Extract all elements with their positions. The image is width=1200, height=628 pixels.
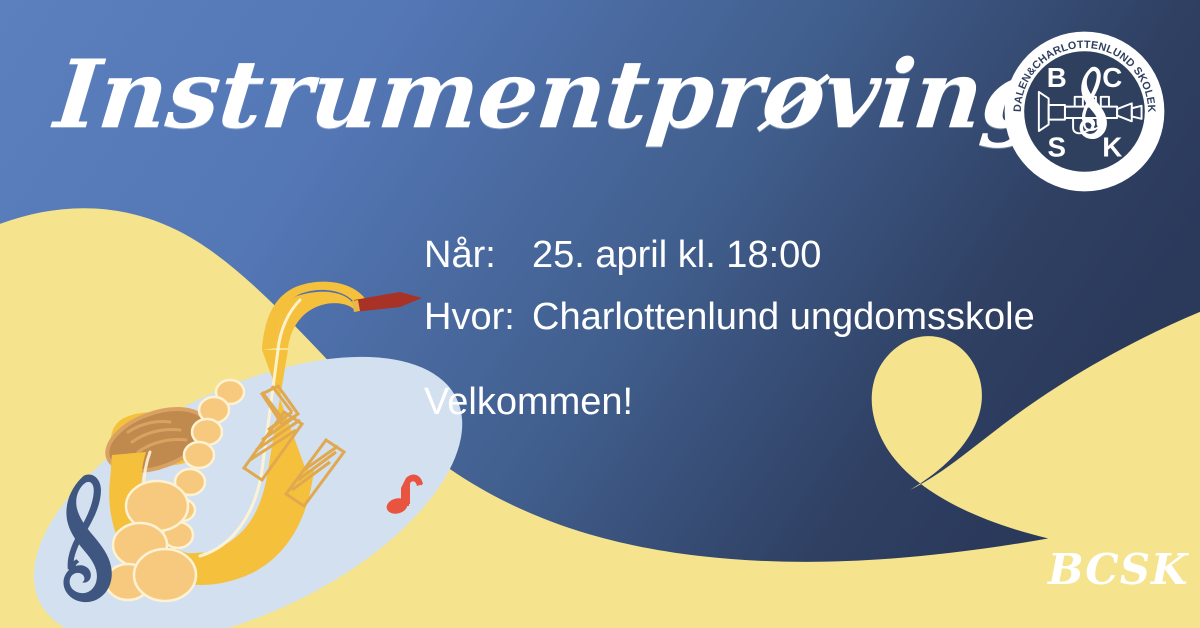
logo-letter-b: B — [1047, 62, 1067, 93]
where-value: Charlottenlund ungdomsskole — [532, 298, 1035, 336]
detail-row-where: Hvor: Charlottenlund ungdomsskole — [424, 298, 1124, 336]
logo-letter-k: K — [1102, 131, 1122, 162]
bcsk-logo: BRUNDALEN&CHARLOTTENLUND SKOLEKORPS TRON… — [1003, 30, 1166, 193]
event-details: Når: 25. april kl. 18:00 Hvor: Charlotte… — [424, 236, 1124, 360]
where-label: Hvor: — [424, 298, 532, 336]
detail-row-when: Når: 25. april kl. 18:00 — [424, 236, 1124, 274]
logo-letter-s: S — [1048, 131, 1066, 162]
poster-canvas: Instrumentprøving Når: 25. april kl. 18:… — [0, 0, 1200, 628]
when-label: Når: — [424, 236, 532, 274]
welcome-text: Velkommen! — [424, 383, 633, 421]
logo-letter-c: C — [1102, 62, 1122, 93]
when-value: 25. april kl. 18:00 — [532, 236, 821, 274]
page-title: Instrumentprøving — [50, 40, 962, 151]
bcsk-wordmark: BCSK — [1048, 549, 1189, 591]
